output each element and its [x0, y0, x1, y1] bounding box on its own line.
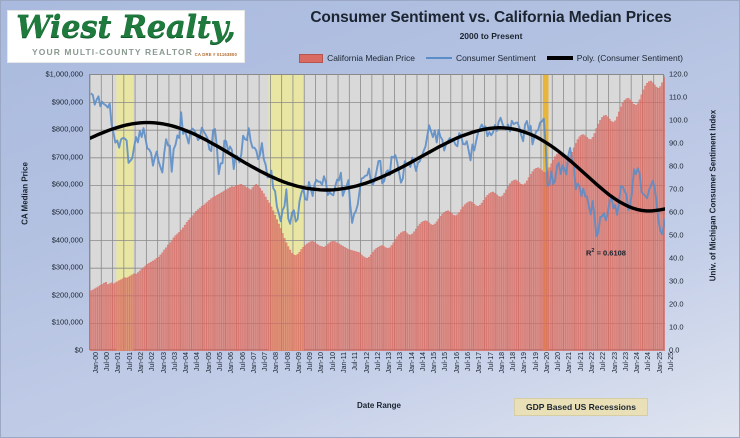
bar	[327, 244, 328, 351]
logo-license-number: CA DRE # 01163800	[195, 52, 237, 57]
x-tick-label: Jul-06	[240, 352, 247, 371]
x-tick-label: Jan-09	[296, 352, 303, 373]
x-tick-label: Jul-23	[623, 352, 630, 371]
bar	[464, 205, 465, 351]
bar	[633, 104, 634, 351]
bar	[312, 241, 313, 351]
y-axis-right-title: Univ. of Michigan Consumer Sentiment Ind…	[709, 96, 718, 296]
bar	[376, 248, 377, 351]
x-tick-label: Jan-11	[341, 352, 348, 373]
bar	[543, 172, 544, 351]
bar	[263, 194, 264, 351]
bar	[641, 95, 642, 351]
bar	[489, 194, 490, 351]
bar	[207, 202, 208, 351]
bar	[126, 278, 127, 351]
bar	[199, 208, 200, 351]
bar	[505, 190, 506, 351]
bar	[481, 203, 482, 351]
bar	[321, 247, 322, 351]
logo-wordmark: Wiest Realty, Inc	[16, 10, 244, 45]
bar	[160, 255, 161, 351]
bar	[521, 184, 522, 351]
bar	[288, 247, 289, 351]
y-tick-left: $1,000,000	[15, 70, 83, 79]
bar	[139, 271, 140, 351]
bar	[607, 117, 608, 351]
bar	[310, 242, 311, 351]
bar	[577, 140, 578, 351]
x-tick-label: Jan-17	[476, 352, 483, 373]
bar	[98, 287, 99, 351]
bar	[522, 185, 523, 351]
bar	[656, 87, 657, 351]
bar	[180, 230, 181, 351]
bar	[592, 137, 593, 351]
bar	[453, 215, 454, 351]
bar	[216, 195, 217, 351]
bar	[477, 206, 478, 351]
y-tick-right: 60.0	[669, 208, 709, 217]
bar	[271, 207, 272, 351]
bar	[259, 188, 260, 351]
bar	[445, 211, 446, 351]
bar	[152, 261, 153, 351]
bar	[227, 189, 228, 351]
legend-swatch-poly-icon	[547, 56, 573, 60]
bar	[194, 214, 195, 351]
bar	[291, 253, 292, 351]
x-tick-label: Jul-13	[397, 352, 404, 371]
legend-swatch-bar-icon	[299, 54, 323, 63]
x-tick-label: Jan-12	[364, 352, 371, 373]
bar	[402, 232, 403, 351]
bar	[601, 118, 602, 351]
bar	[436, 222, 437, 351]
bar	[278, 224, 279, 351]
bar	[250, 190, 251, 351]
bar	[368, 257, 369, 351]
bar	[334, 242, 335, 351]
bar	[94, 289, 95, 351]
x-tick-label: Jan-23	[612, 352, 619, 373]
bar	[539, 169, 540, 351]
y-tick-right: 30.0	[669, 277, 709, 286]
bar	[524, 184, 525, 351]
bar	[237, 185, 238, 351]
bar	[631, 102, 632, 351]
x-tick-label: Jan-02	[138, 352, 145, 373]
y-axis-left-ticks: $0$100,000$200,000$300,000$400,000$500,0…	[15, 69, 83, 351]
legend-swatch-line-icon	[426, 57, 452, 60]
x-tick-label: Jul-21	[578, 352, 585, 371]
bar	[318, 245, 319, 351]
bar	[425, 221, 426, 351]
y-axis-right-ticks: 0.010.020.030.040.050.060.070.080.090.01…	[669, 69, 709, 351]
bar	[137, 273, 138, 351]
x-tick-label: Jul-08	[285, 352, 292, 371]
bar	[440, 216, 441, 351]
bar	[624, 100, 625, 351]
bar	[241, 184, 242, 351]
bar	[265, 197, 266, 351]
bar	[663, 78, 664, 351]
x-tick-label: Jan-25	[657, 352, 664, 373]
bar	[381, 246, 382, 351]
bar	[192, 216, 193, 351]
bar	[566, 157, 567, 351]
bar	[474, 204, 475, 351]
y-tick-left: $400,000	[15, 235, 83, 244]
bar	[654, 85, 655, 351]
bar	[487, 195, 488, 351]
bar	[569, 156, 570, 351]
chart-title: Consumer Sentiment vs. California Median…	[249, 9, 733, 27]
bar	[660, 87, 661, 351]
bar	[325, 246, 326, 351]
bar	[188, 220, 189, 351]
bar	[468, 202, 469, 351]
y-tick-left: $500,000	[15, 208, 83, 217]
bar	[380, 246, 381, 351]
bar	[148, 263, 149, 351]
bar	[124, 278, 125, 351]
x-tick-label: Jul-19	[533, 352, 540, 371]
bar	[331, 242, 332, 351]
bar	[319, 246, 320, 351]
x-tick-label: Jan-19	[521, 352, 528, 373]
bar	[609, 119, 610, 351]
bar	[344, 247, 345, 351]
bar	[614, 121, 615, 351]
bar	[541, 170, 542, 351]
bar	[618, 112, 619, 351]
bar	[427, 221, 428, 351]
x-tick-label: Jan-22	[589, 352, 596, 373]
x-tick-label: Jul-01	[127, 352, 134, 371]
bar	[396, 237, 397, 351]
y-tick-right: 50.0	[669, 231, 709, 240]
bar	[611, 121, 612, 351]
bar	[336, 243, 337, 351]
x-tick-label: Jan-05	[206, 352, 213, 373]
bar	[423, 221, 424, 351]
y-tick-left: $100,000	[15, 318, 83, 327]
x-tick-label: Jul-07	[262, 352, 269, 371]
bar	[117, 282, 118, 351]
bar	[346, 248, 347, 351]
bar	[556, 154, 557, 351]
y-tick-right: 10.0	[669, 323, 709, 332]
bar	[378, 247, 379, 351]
bar	[645, 86, 646, 351]
bar	[342, 246, 343, 351]
bar	[135, 274, 136, 351]
x-tick-label: Jan-16	[454, 352, 461, 373]
y-tick-right: 90.0	[669, 139, 709, 148]
legend-label-median-price: California Median Price	[327, 53, 415, 63]
company-logo: Wiest Realty, Inc YOUR MULTI-COUNTY REAL…	[7, 10, 245, 63]
x-tick-label: Jan-03	[161, 352, 168, 373]
bar	[242, 185, 243, 351]
bar	[105, 282, 106, 351]
bar	[598, 124, 599, 351]
bar	[412, 234, 413, 351]
x-tick-label: Jul-10	[330, 352, 337, 371]
bar	[269, 203, 270, 351]
x-tick-label: Jul-00	[104, 352, 111, 371]
bar	[622, 103, 623, 351]
bar	[254, 185, 255, 351]
bar	[214, 196, 215, 351]
bar	[133, 274, 134, 351]
bar	[594, 134, 595, 351]
bar	[393, 243, 394, 351]
bar	[494, 193, 495, 351]
bar	[286, 243, 287, 351]
y-tick-right: 20.0	[669, 300, 709, 309]
bar	[554, 157, 555, 351]
bar	[175, 236, 176, 351]
x-axis-title: Date Range	[289, 401, 469, 410]
bar	[143, 268, 144, 351]
bar	[451, 214, 452, 351]
y-tick-right: 70.0	[669, 185, 709, 194]
bar	[92, 290, 93, 351]
bar	[413, 232, 414, 351]
bar	[626, 99, 627, 351]
bar	[455, 216, 456, 351]
y-tick-left: $900,000	[15, 97, 83, 106]
bar	[272, 211, 273, 351]
y-tick-right: 100.0	[669, 116, 709, 125]
bar	[603, 116, 604, 351]
bar	[596, 129, 597, 351]
bar	[500, 197, 501, 351]
bar	[532, 172, 533, 351]
x-tick-label: Jan-15	[431, 352, 438, 373]
bar	[485, 198, 486, 351]
bar	[323, 247, 324, 351]
bar	[235, 186, 236, 351]
bar	[203, 205, 204, 351]
chart-legend: California Median Price Consumer Sentime…	[249, 53, 733, 63]
bar	[257, 186, 258, 351]
bar	[496, 195, 497, 351]
bar	[162, 253, 163, 351]
bar	[150, 262, 151, 351]
bar	[303, 247, 304, 351]
bar	[304, 246, 305, 351]
bar	[115, 283, 116, 351]
bar	[109, 284, 110, 351]
bar	[365, 258, 366, 351]
bar	[218, 194, 219, 351]
bar	[103, 283, 104, 351]
recession-key-label: GDP Based US Recessions	[514, 398, 648, 416]
y-tick-right: 0.0	[669, 346, 709, 355]
bar	[590, 140, 591, 351]
bar	[163, 250, 164, 351]
bar	[549, 168, 550, 351]
bar	[661, 83, 662, 351]
bar	[449, 212, 450, 351]
bar	[145, 266, 146, 351]
bar	[558, 153, 559, 351]
bar	[252, 188, 253, 351]
bar	[434, 224, 435, 351]
bar	[96, 288, 97, 351]
bar	[511, 182, 512, 351]
bar	[224, 191, 225, 351]
bar	[620, 107, 621, 351]
bar	[652, 83, 653, 351]
bar	[457, 215, 458, 351]
bar	[616, 117, 617, 351]
x-tick-label: Jul-20	[555, 352, 562, 371]
bar	[588, 139, 589, 351]
x-axis-ticks: Jan-00Jul-00Jan-01Jul-01Jan-02Jul-02Jan-…	[89, 352, 664, 398]
y-tick-left: $700,000	[15, 152, 83, 161]
bar	[256, 184, 257, 351]
bar	[201, 206, 202, 351]
bar	[428, 223, 429, 351]
y-tick-right: 40.0	[669, 254, 709, 263]
bar	[205, 204, 206, 351]
bar	[248, 189, 249, 351]
bar	[560, 152, 561, 351]
bar	[410, 235, 411, 351]
bar	[383, 247, 384, 351]
x-tick-label: Jan-08	[273, 352, 280, 373]
bar	[212, 198, 213, 351]
bar	[297, 254, 298, 351]
y-tick-left: $600,000	[15, 180, 83, 189]
bar	[120, 280, 121, 351]
bar	[267, 200, 268, 351]
bar	[475, 206, 476, 351]
bar	[132, 275, 133, 351]
x-tick-label: Jan-14	[409, 352, 416, 373]
bar	[357, 252, 358, 351]
chart-subtitle: 2000 to Present	[249, 31, 733, 41]
bar	[406, 233, 407, 351]
bar	[400, 233, 401, 351]
bar	[233, 187, 234, 351]
bar	[417, 226, 418, 351]
x-tick-label: Jan-01	[115, 352, 122, 373]
bar	[586, 137, 587, 351]
bar	[552, 160, 553, 351]
bar	[314, 242, 315, 351]
bar	[113, 284, 114, 351]
bar	[222, 192, 223, 351]
bar	[528, 178, 529, 351]
bar	[387, 248, 388, 351]
bar	[537, 168, 538, 351]
bar	[169, 243, 170, 351]
bar	[359, 253, 360, 351]
bar	[635, 105, 636, 351]
bar	[599, 120, 600, 351]
bar	[282, 233, 283, 351]
bar	[460, 210, 461, 351]
bar	[530, 174, 531, 351]
bar	[483, 200, 484, 351]
x-tick-label: Jan-04	[183, 352, 190, 373]
bar	[173, 238, 174, 351]
x-tick-label: Jul-12	[375, 352, 382, 371]
x-tick-label: Jan-20	[544, 352, 551, 373]
bar	[289, 250, 290, 351]
bar	[547, 171, 548, 351]
x-tick-label: Jan-18	[499, 352, 506, 373]
bar	[584, 136, 585, 351]
bar	[419, 224, 420, 351]
bar	[340, 245, 341, 351]
bar	[492, 192, 493, 351]
legend-label-poly-trendline: Poly. (Consumer Sentiment)	[577, 53, 683, 63]
chart-page: Wiest Realty, Inc YOUR MULTI-COUNTY REAL…	[0, 0, 740, 438]
bar	[519, 183, 520, 351]
bar	[329, 243, 330, 351]
bar	[197, 210, 198, 351]
bar	[90, 291, 91, 351]
bar	[415, 229, 416, 351]
y-tick-right: 110.0	[669, 93, 709, 102]
bar	[295, 256, 296, 351]
bar	[156, 258, 157, 351]
r-squared-annotation: R2 = 0.6108	[586, 248, 626, 258]
x-tick-label: Jul-02	[149, 352, 156, 371]
bar	[389, 248, 390, 351]
plot-svg	[90, 75, 665, 351]
bar	[398, 235, 399, 351]
bar	[408, 235, 409, 351]
bar	[551, 164, 552, 351]
bar	[220, 193, 221, 351]
bar	[130, 276, 131, 351]
x-tick-label: Jul-14	[420, 352, 427, 371]
bar	[421, 222, 422, 351]
x-tick-label: Jul-05	[217, 352, 224, 371]
bar	[244, 187, 245, 351]
r2-value: = 0.6108	[594, 249, 626, 258]
bar	[338, 244, 339, 351]
x-tick-label: Jul-25	[668, 352, 675, 371]
bar	[333, 241, 334, 351]
bar	[536, 168, 537, 351]
bar	[385, 248, 386, 351]
y-tick-left: $0	[15, 346, 83, 355]
bar	[306, 244, 307, 351]
bar	[107, 284, 108, 351]
bar	[391, 246, 392, 351]
bar	[363, 257, 364, 351]
x-tick-label: Jan-00	[93, 352, 100, 373]
bar	[509, 184, 510, 351]
x-tick-label: Jul-16	[465, 352, 472, 371]
bar	[355, 252, 356, 351]
bar	[246, 188, 247, 351]
bar	[515, 180, 516, 351]
bar	[186, 222, 187, 351]
legend-label-consumer-sentiment: Consumer Sentiment	[456, 53, 536, 63]
bar	[195, 211, 196, 351]
bar	[372, 252, 373, 351]
x-tick-label: Jul-03	[172, 352, 179, 371]
bar	[167, 245, 168, 351]
